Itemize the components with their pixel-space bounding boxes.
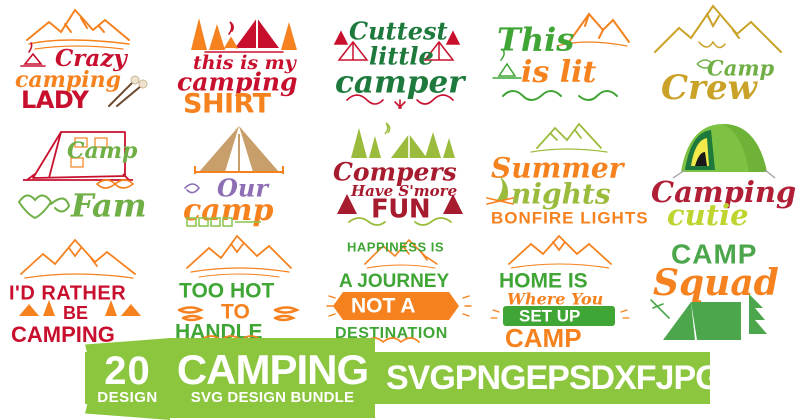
design-tile-this-is-my-camping-shirt[interactable]: this is my camping SHIRT	[160, 0, 320, 116]
design-line-1: HAPPINESS IS	[347, 239, 444, 254]
design-line-2: nights	[511, 178, 611, 211]
design-line-2: cutie	[667, 198, 749, 232]
design-line-3: FUN	[371, 195, 430, 225]
design-tile-happiness-is-a-journey[interactable]: HAPPINESS IS A JOURNEY NOT A DESTINATION	[320, 232, 480, 348]
design-line-1: TOO HOT	[179, 280, 274, 303]
design-line-3: BONFIRE LIGHTS	[491, 208, 649, 227]
design-line-1: This	[497, 21, 574, 59]
tent-silhouette-icon	[663, 302, 741, 340]
design-artwork: This is lit	[485, 2, 635, 114]
design-artwork: Camping cutie	[645, 118, 795, 230]
design-artwork: Our camp	[165, 118, 315, 230]
format-list: SVG PNG EPS DXF JPG	[380, 354, 710, 402]
design-tile-compers-have-smore-fun[interactable]: Compers Have S'more FUN	[320, 116, 480, 232]
design-tile-this-is-lit[interactable]: This is lit	[480, 0, 640, 116]
design-line-3: LADY	[21, 86, 90, 114]
design-line-2: Fam	[70, 187, 147, 225]
design-line-1: Camp	[67, 138, 138, 164]
design-tile-camp-fam[interactable]: Camp Fam	[0, 116, 160, 232]
design-line-2: Squad	[653, 262, 779, 304]
design-tile-our-camp[interactable]: Our camp	[160, 116, 320, 232]
design-count-label: DESIGN	[97, 390, 158, 405]
mountains-icon	[531, 124, 607, 152]
format-png: PNG	[455, 361, 526, 395]
mountains-icon	[21, 240, 135, 278]
design-tile-home-is-where-you-set-up-camp[interactable]: HOME IS Where You SET UP CAMP	[480, 232, 640, 348]
format-dxf: DXF	[591, 361, 656, 395]
bundle-ribbon: 20 DESIGN CAMPING SVG DESIGN BUNDLE SVG …	[0, 338, 800, 420]
design-artwork: Crazy camping LADY	[5, 2, 155, 114]
format-svg: SVG	[386, 361, 455, 395]
design-line-2: BE	[63, 303, 88, 323]
format-eps: EPS	[526, 361, 591, 395]
tent-icon	[391, 134, 427, 158]
design-line-3: NOT A	[351, 295, 416, 318]
campfire-icon	[21, 43, 45, 66]
design-artwork: Compers Have S'more FUN	[325, 118, 475, 230]
heart-swirl-icon	[19, 195, 69, 218]
design-artwork: I'D RATHER BE CAMPING	[5, 234, 155, 346]
design-tile-camp-squad[interactable]: CAMP Squad	[640, 232, 800, 348]
format-jpg: JPG	[656, 361, 721, 395]
design-line-1: I'D RATHER	[9, 282, 126, 304]
design-tile-cuttest-little-camper[interactable]: Cuttest little camper	[320, 0, 480, 116]
design-count-number: 20	[104, 353, 151, 390]
design-artwork: Camp Crew	[645, 2, 795, 114]
design-tile-summer-nights-bonfire-lights[interactable]: Summer nights BONFIRE LIGHTS	[480, 116, 640, 232]
design-tile-id-rather-be-camping[interactable]: I'D RATHER BE CAMPING	[0, 232, 160, 348]
design-artwork: HAPPINESS IS A JOURNEY NOT A DESTINATION	[325, 234, 475, 346]
design-artwork: TOO HOT TO HANDLE	[165, 234, 315, 346]
design-artwork: this is my camping SHIRT	[165, 2, 315, 114]
design-artwork: HOME IS Where You SET UP CAMP	[485, 234, 635, 346]
smoke-icon	[385, 123, 390, 134]
design-tile-too-hot-to-handle[interactable]: TOO HOT TO HANDLE	[160, 232, 320, 348]
design-bundle-preview: Crazy camping LADY	[0, 0, 800, 420]
swirl-flourish-icon	[503, 91, 617, 100]
design-artwork: Summer nights BONFIRE LIGHTS	[485, 118, 635, 230]
design-tile-camping-cutie[interactable]: Camping cutie	[640, 116, 800, 232]
design-line-3: SHIRT	[183, 89, 272, 120]
design-artwork: Camp Fam	[5, 118, 155, 230]
dome-tent-icon	[673, 124, 775, 178]
tent-icon	[235, 18, 279, 48]
mountains-icon	[187, 236, 291, 277]
mountains-icon	[27, 10, 129, 49]
bundle-title-text: CAMPING SVG DESIGN BUNDLE	[170, 340, 375, 418]
mountains-icon	[509, 236, 611, 268]
design-line-2: A JOURNEY	[339, 271, 449, 292]
design-tile-crazy-camping-lady[interactable]: Crazy camping LADY	[0, 0, 160, 116]
bundle-title: CAMPING	[177, 351, 368, 390]
tent-filled-icon	[195, 126, 283, 174]
mountains-icon	[655, 6, 781, 52]
design-line-2: Crew	[661, 68, 759, 108]
bundle-subtitle: SVG DESIGN BUNDLE	[191, 389, 354, 407]
design-grid: Crazy camping LADY	[0, 0, 800, 350]
design-artwork: CAMP Squad	[645, 234, 795, 346]
design-count-badge-text: 20 DESIGN	[85, 338, 170, 420]
design-artwork: Cuttest little camper	[325, 2, 475, 114]
design-line-2: is lit	[521, 55, 597, 90]
swirl-icon	[185, 184, 199, 193]
design-tile-camp-crew[interactable]: Camp Crew	[640, 0, 800, 116]
